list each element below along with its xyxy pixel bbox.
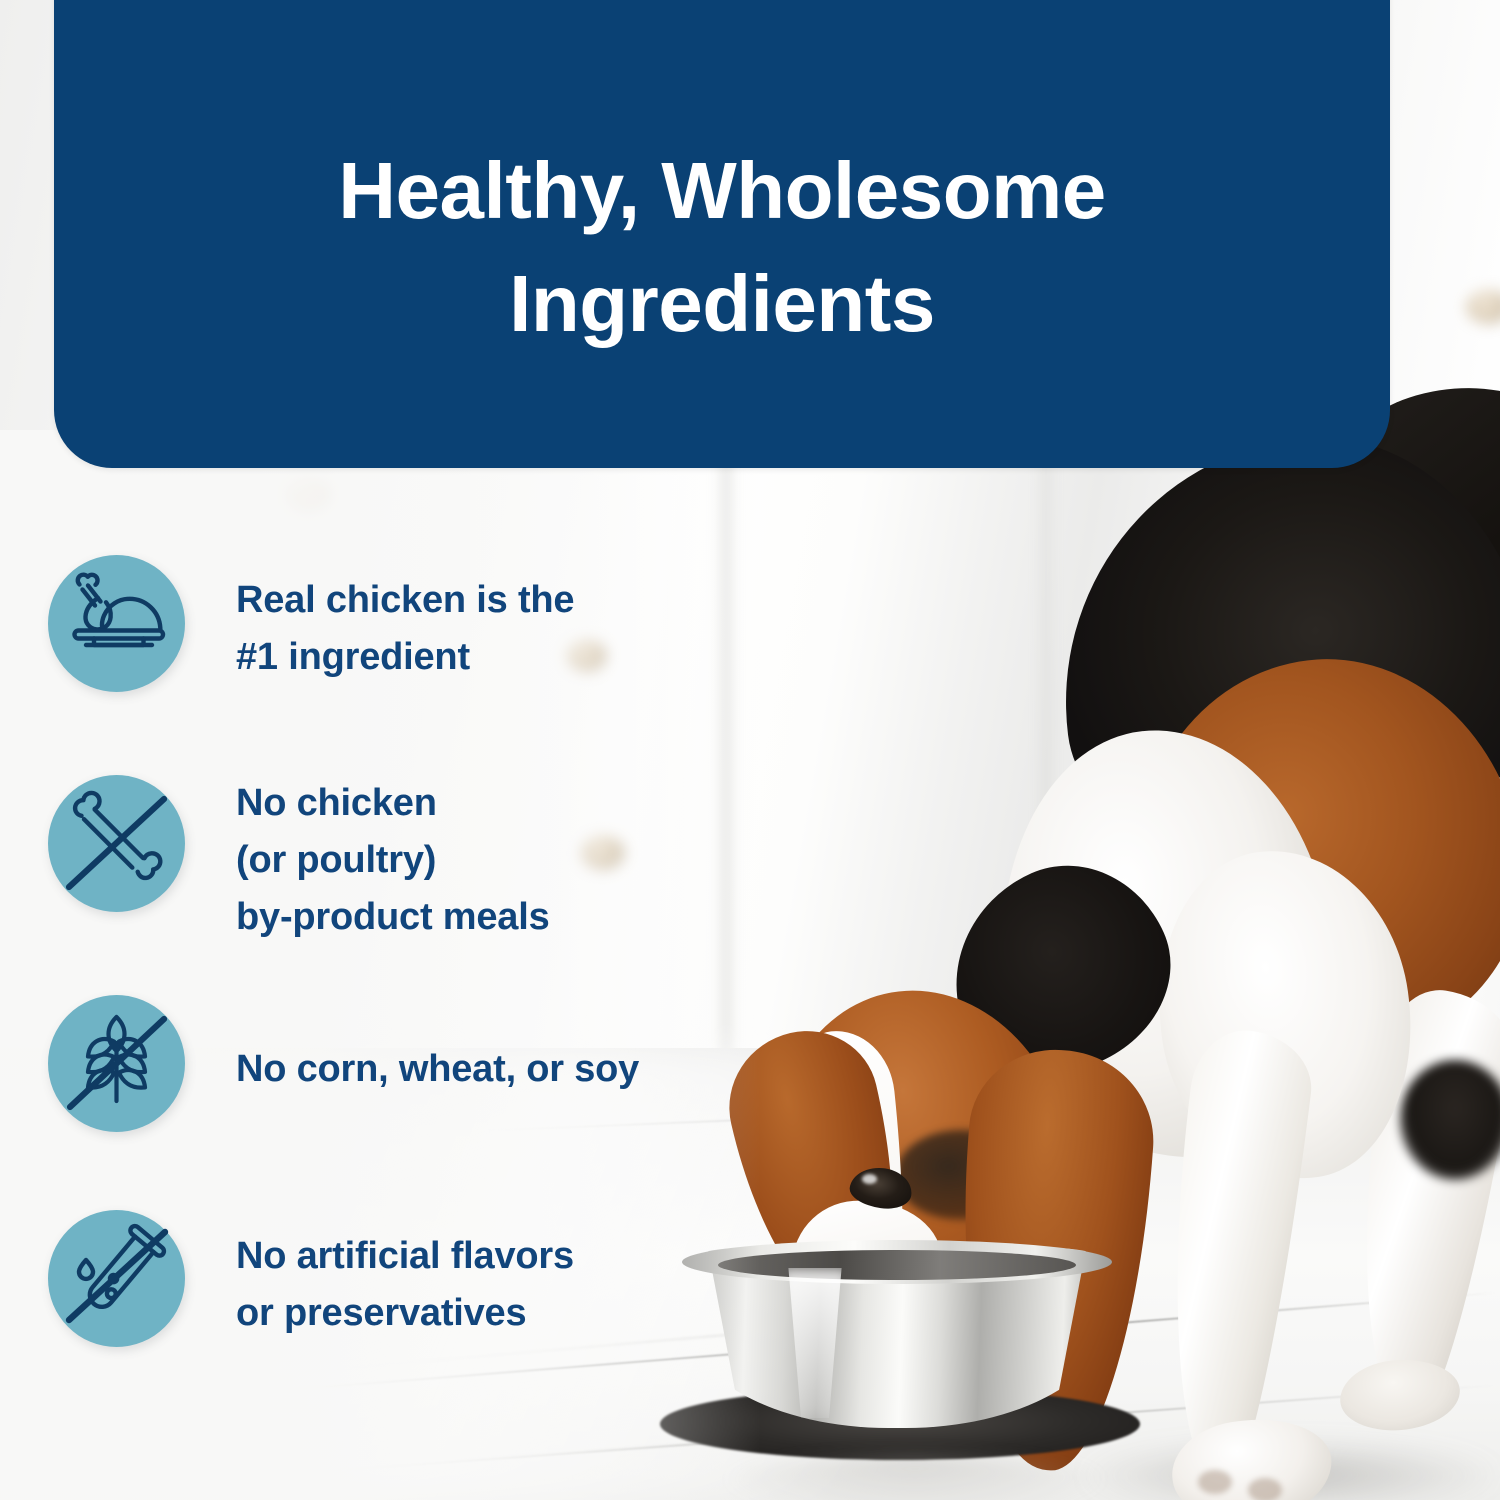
list-item-label: Real chicken is the #1 ingredient: [236, 555, 574, 686]
list-item-label: No corn, wheat, or soy: [236, 995, 639, 1098]
list-item-label: No artificial flavors or preservatives: [236, 1210, 574, 1342]
dog-paw-toe: [1198, 1470, 1232, 1494]
dog-eye-glint: [862, 1174, 877, 1184]
page-title: Healthy, Wholesome Ingredients: [242, 134, 1202, 360]
promo-graphic: Healthy, Wholesome Ingredients: [0, 0, 1500, 1500]
dog-paw-toe: [1248, 1478, 1282, 1500]
list-item: Real chicken is the #1 ingredient: [48, 555, 574, 692]
roast-chicken-icon: [48, 555, 185, 692]
dog-rear-leg-marking: [1400, 1060, 1500, 1180]
no-bone-icon: [48, 775, 185, 912]
list-item: No chicken (or poultry) by-product meals: [48, 775, 550, 946]
header-banner: Healthy, Wholesome Ingredients: [54, 0, 1390, 468]
bowl-interior: [718, 1250, 1076, 1280]
list-item: No corn, wheat, or soy: [48, 995, 639, 1132]
list-item: No artificial flavors or preservatives: [48, 1210, 574, 1347]
no-test-tube-icon: [48, 1210, 185, 1347]
bowl-reflection: [720, 1456, 1110, 1500]
no-wheat-icon: [48, 995, 185, 1132]
list-item-label: No chicken (or poultry) by-product meals: [236, 775, 550, 946]
